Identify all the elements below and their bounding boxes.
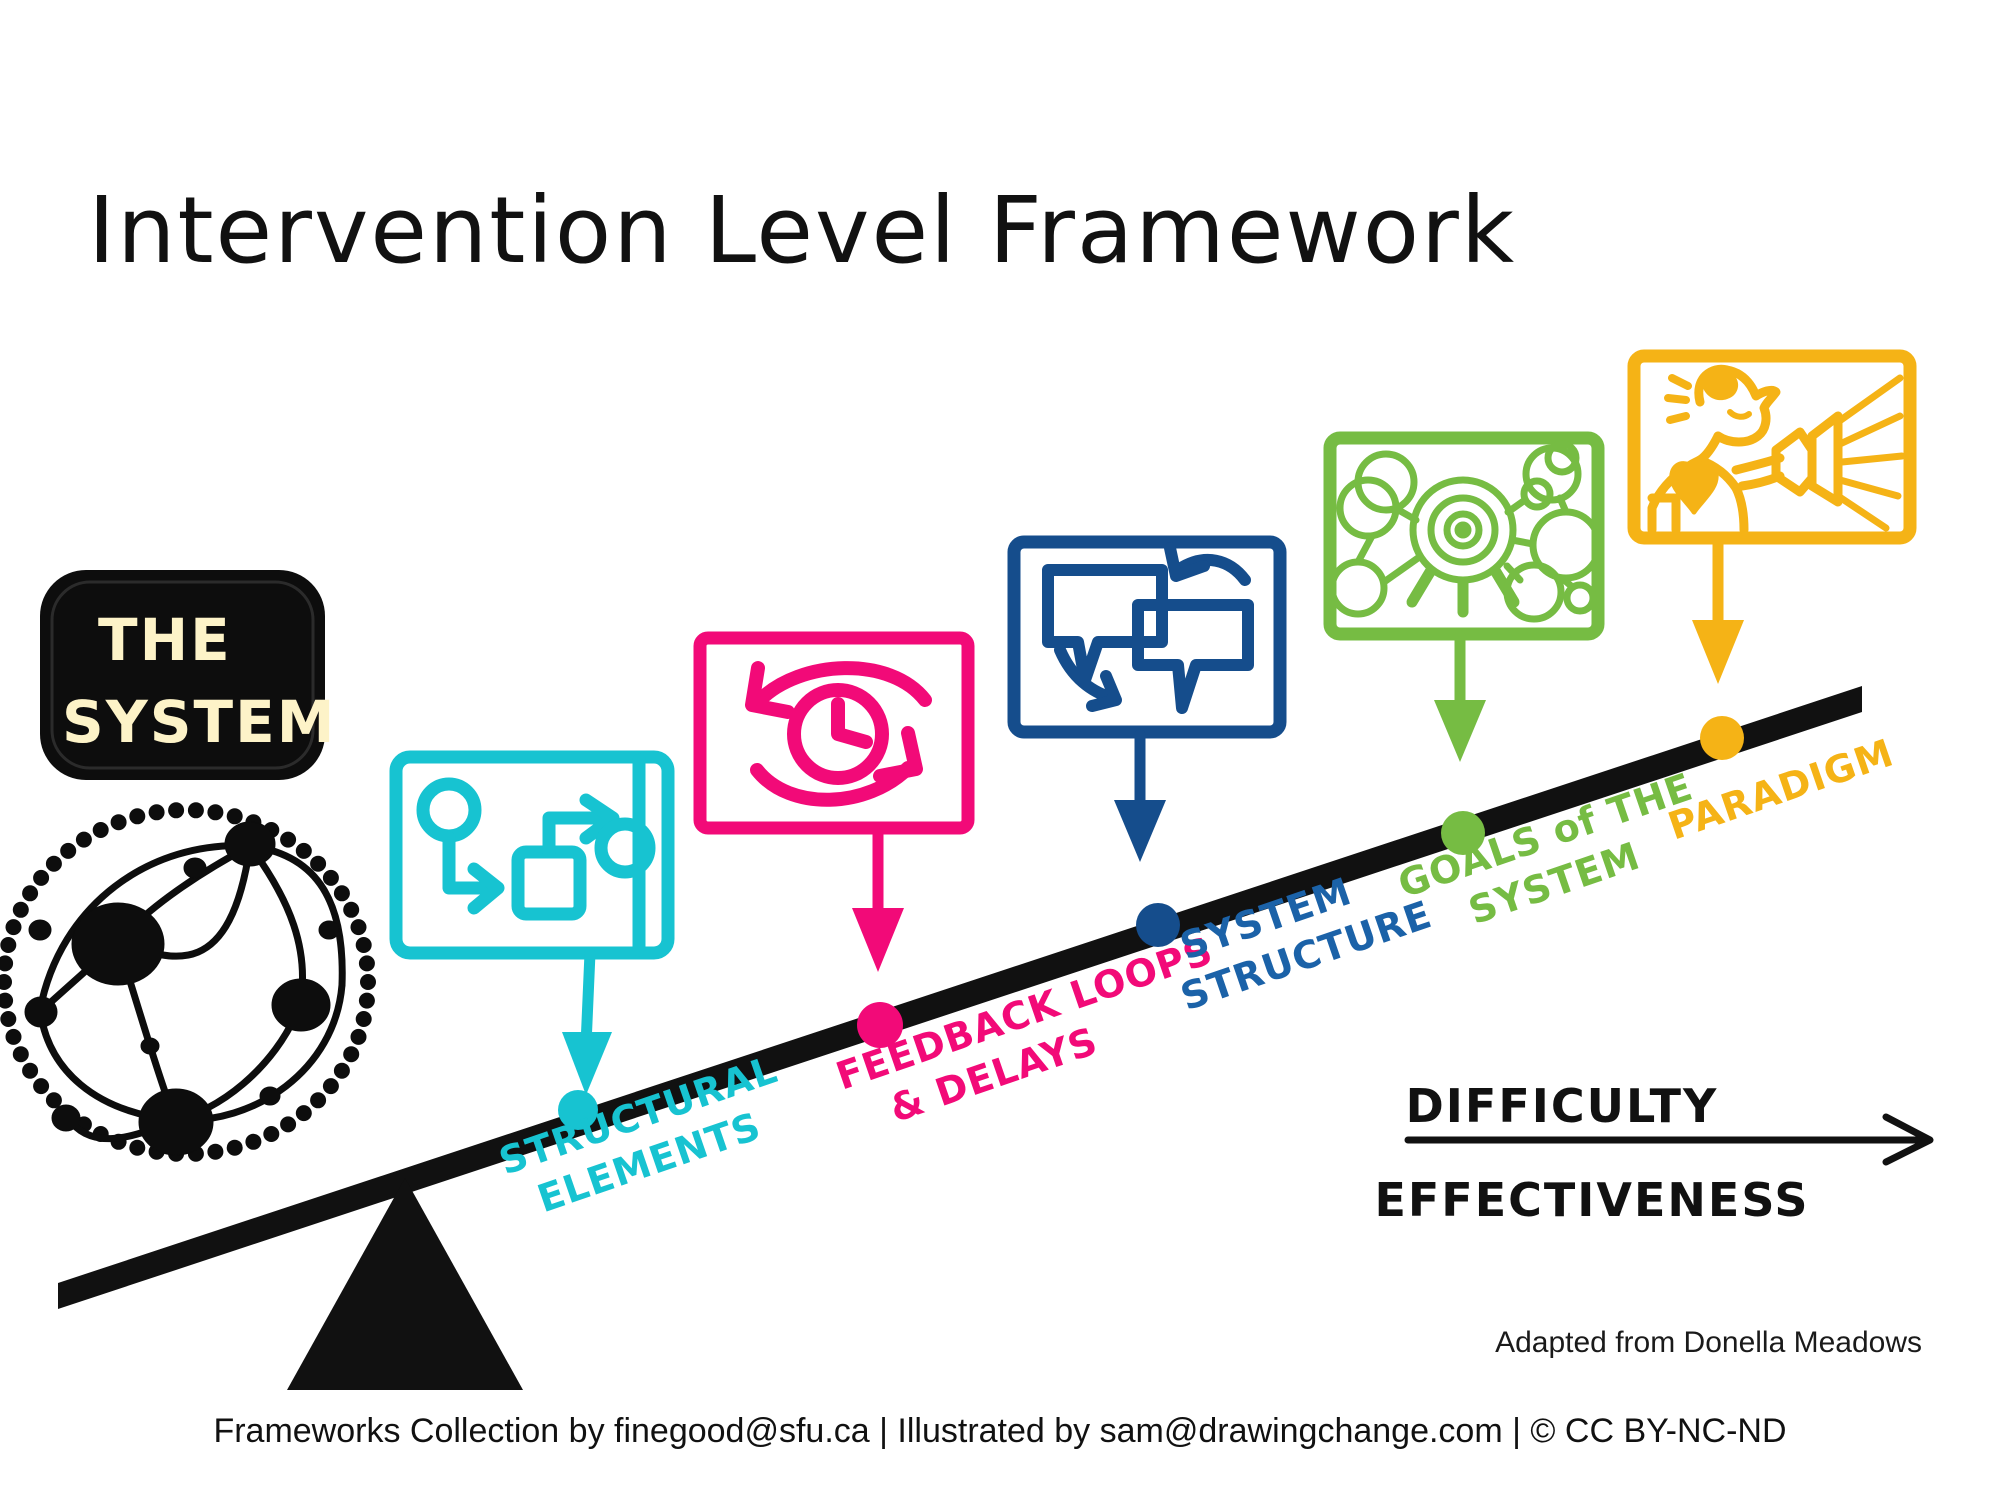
goals-arrowhead [1434,700,1486,762]
difficulty-effectiveness-axis: DIFFICULTY EFFECTIVENESS [1374,1079,1930,1227]
system-structure-dot [1136,903,1180,947]
feedback-loops-arrowhead [852,908,904,972]
network-node-large [72,903,164,985]
adapted-credit: Adapted from Donella Meadows [1495,1326,1922,1359]
system-badge-line1: THE [98,606,232,674]
axis-bottom-label: EFFECTIVENESS [1374,1173,1809,1227]
network-node-small [260,1087,280,1105]
system-badge: THE SYSTEM [40,570,336,780]
intervention-level-framework-svg: Intervention Level Framework THE SYSTEM [0,0,2000,1500]
clock-refresh-icon [752,668,925,800]
diagram-canvas: Intervention Level Framework THE SYSTEM [0,0,2000,1500]
structural-elements-connector [586,953,590,1045]
axis-top-label: DIFFICULTY [1406,1079,1719,1133]
structural-elements-arrowhead [562,1032,612,1095]
network-node-small [52,1105,80,1131]
network-node-small [25,997,57,1027]
network-node [225,822,275,866]
network-nodes-icon [0,802,376,1161]
network-node [139,1089,213,1155]
paradigm-dot [1700,716,1744,760]
network-node-small [29,920,51,940]
paradigm-arrowhead [1692,620,1744,684]
system-structure-arrowhead [1114,800,1166,862]
structural-elements-label: STRUCTURAL ELEMENTS [494,1047,799,1229]
system-badge-line2: SYSTEM [62,688,336,756]
person-megaphone-icon [1652,369,1902,530]
page-title: Intervention Level Framework [88,177,1516,284]
speech-bubbles-icon [1048,548,1248,708]
footer-credit: Frameworks Collection by finegood@sfu.ca… [213,1412,1786,1450]
network-node-small [141,1038,159,1054]
network-node-small [319,921,339,939]
flow-diagram-icon [423,760,649,950]
network-node [272,979,330,1031]
target-network-icon [1332,444,1599,619]
network-node-small [184,858,206,878]
